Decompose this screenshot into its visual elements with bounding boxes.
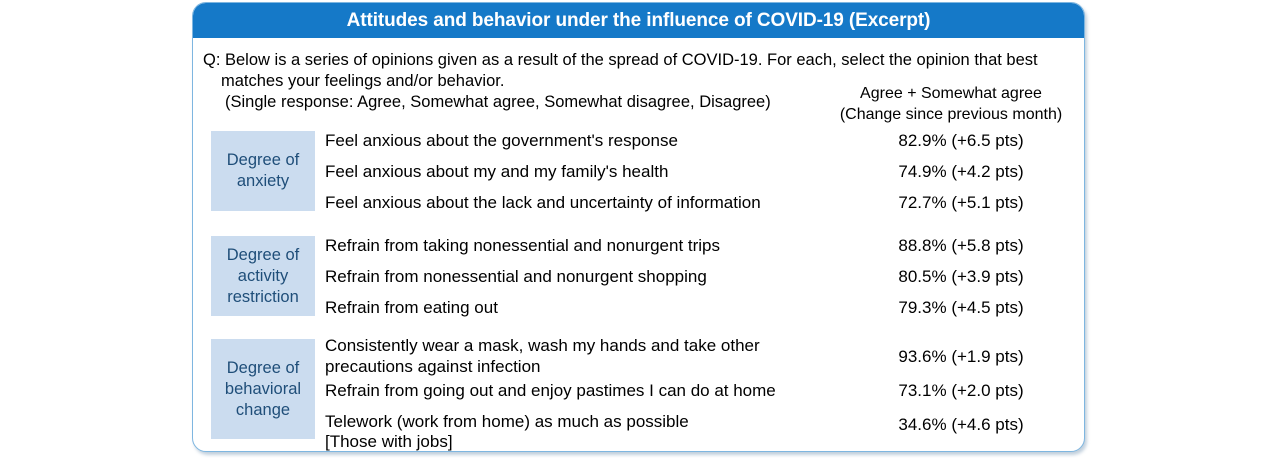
row-label: Refrain from eating out xyxy=(325,297,845,318)
row-value: 80.5% (+3.9 pts) xyxy=(861,266,1061,287)
table-row: Telework (work from home) as much as pos… xyxy=(325,412,1084,452)
question-line-2: matches your feelings and/or behavior. xyxy=(203,71,893,92)
category-label-line: Degree of xyxy=(227,150,299,171)
row-label: Consistently wear a mask, wash my hands … xyxy=(325,335,845,377)
row-label: Refrain from taking nonessential and non… xyxy=(325,235,845,256)
page-title: Attitudes and behavior under the influen… xyxy=(347,10,931,32)
category-label-line: behavioral xyxy=(225,379,301,400)
row-value: 34.6% (+4.6 pts) xyxy=(861,414,1061,435)
row-value: 73.1% (+2.0 pts) xyxy=(861,380,1061,401)
value-column-heading-line-1: Agree + Somewhat agree xyxy=(821,83,1081,104)
category-label-line: Degree of xyxy=(227,358,299,379)
table-row: Consistently wear a mask, wash my hands … xyxy=(325,335,1084,380)
row-label: Feel anxious about the government's resp… xyxy=(325,130,845,151)
question-line-3: (Single response: Agree, Somewhat agree,… xyxy=(203,92,893,113)
row-label: Feel anxious about my and my family's he… xyxy=(325,161,845,182)
section-degree-of-behavioral-change: Degree of behavioral change Consistently… xyxy=(193,335,1084,445)
row-list-activity-restriction: Refrain from taking nonessential and non… xyxy=(325,235,1084,328)
table-row: Feel anxious about the lack and uncertai… xyxy=(325,192,1084,223)
category-label-line: restriction xyxy=(227,287,299,308)
row-list-anxiety: Feel anxious about the government's resp… xyxy=(325,130,1084,223)
row-value: 72.7% (+5.1 pts) xyxy=(861,192,1061,213)
category-label-activity-restriction: Degree of activity restriction xyxy=(211,236,315,316)
table-row: Refrain from nonessential and nonurgent … xyxy=(325,266,1084,297)
row-value: 79.3% (+4.5 pts) xyxy=(861,297,1061,318)
row-value: 82.9% (+6.5 pts) xyxy=(861,130,1061,151)
row-value: 88.8% (+5.8 pts) xyxy=(861,235,1061,256)
category-label-behavioral-change: Degree of behavioral change xyxy=(211,339,315,439)
value-column-heading: Agree + Somewhat agree (Change since pre… xyxy=(821,83,1081,125)
question-line-1: Q: Below is a series of opinions given a… xyxy=(203,50,893,71)
value-column-heading-line-2: (Change since previous month) xyxy=(821,104,1081,125)
category-label-anxiety: Degree of anxiety xyxy=(211,131,315,211)
table-row: Refrain from eating out 79.3% (+4.5 pts) xyxy=(325,297,1084,328)
row-list-behavioral-change: Consistently wear a mask, wash my hands … xyxy=(325,335,1084,452)
row-label: Refrain from going out and enjoy pastime… xyxy=(325,380,845,401)
section-degree-of-activity-restriction: Degree of activity restriction Refrain f… xyxy=(193,232,1084,324)
card-body: Q: Below is a series of opinions given a… xyxy=(193,38,1084,452)
survey-card: Attitudes and behavior under the influen… xyxy=(192,2,1085,452)
table-row: Feel anxious about my and my family's he… xyxy=(325,161,1084,192)
category-label-line: anxiety xyxy=(237,171,289,192)
page-root: Attitudes and behavior under the influen… xyxy=(0,0,1280,458)
row-value: 74.9% (+4.2 pts) xyxy=(861,161,1061,182)
row-label: Refrain from nonessential and nonurgent … xyxy=(325,266,845,287)
table-row: Refrain from going out and enjoy pastime… xyxy=(325,380,1084,412)
question-block: Q: Below is a series of opinions given a… xyxy=(203,50,893,113)
category-label-line: activity xyxy=(238,266,288,287)
table-row: Refrain from taking nonessential and non… xyxy=(325,235,1084,266)
card-header: Attitudes and behavior under the influen… xyxy=(193,3,1084,38)
section-degree-of-anxiety: Degree of anxiety Feel anxious about the… xyxy=(193,127,1084,219)
category-label-line: Degree of xyxy=(227,245,299,266)
row-label: Telework (work from home) as much as pos… xyxy=(325,412,845,452)
table-row: Feel anxious about the government's resp… xyxy=(325,130,1084,161)
category-label-line: change xyxy=(236,400,290,421)
row-label: Feel anxious about the lack and uncertai… xyxy=(325,192,845,213)
row-value: 93.6% (+1.9 pts) xyxy=(861,346,1061,367)
